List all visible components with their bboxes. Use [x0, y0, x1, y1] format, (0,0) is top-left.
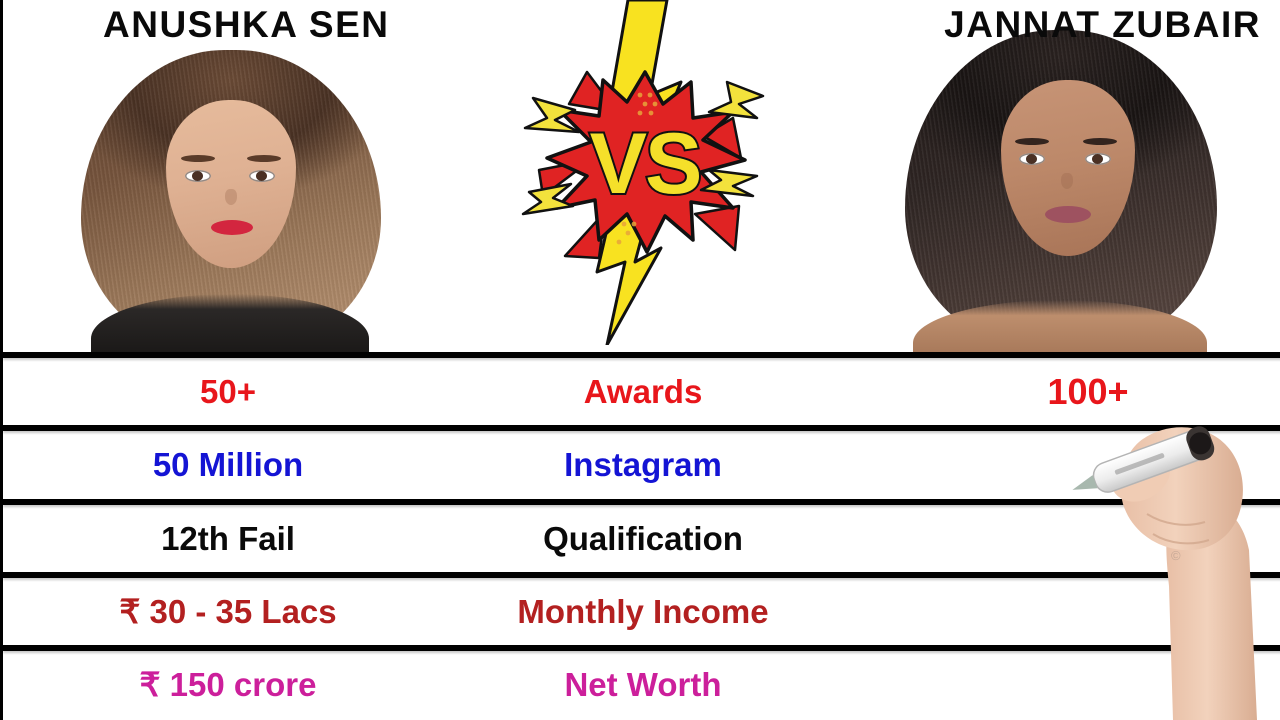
left-eye-1 — [185, 170, 211, 182]
row-3-left-value: 12th Fail — [63, 505, 393, 572]
row-4-right-value — [923, 578, 1253, 645]
vs-badge: VS — [495, 0, 795, 345]
right-lips — [1045, 206, 1091, 223]
right-eye-2 — [1085, 153, 1111, 165]
row-5-right-value — [923, 651, 1253, 718]
left-nose — [225, 189, 237, 205]
row-3-right-value — [923, 505, 1253, 572]
row-2-right-value — [923, 431, 1253, 498]
right-person-photo — [895, 22, 1225, 352]
row-1-left-value: 50+ — [63, 358, 393, 425]
left-eye-2 — [249, 170, 275, 182]
left-brow-1 — [181, 155, 215, 162]
row-4-left-value: ₹ 30 - 35 Lacs — [63, 578, 393, 645]
row-5-label: Net Worth — [455, 651, 831, 718]
photo-band: ANUSHKA SEN JANNAT ZUBAIR — [3, 0, 1280, 352]
row-5-left-value: ₹ 150 crore — [63, 651, 393, 718]
left-lips — [211, 220, 253, 235]
table-row: ₹ 150 crore Net Worth — [3, 651, 1280, 718]
right-nose — [1061, 173, 1073, 189]
left-person-photo — [65, 34, 395, 352]
row-3-label: Qualification — [455, 505, 831, 572]
row-2-label: Instagram — [455, 431, 831, 498]
row-1-label: Awards — [455, 358, 831, 425]
table-row: 50 Million Instagram — [3, 431, 1280, 498]
row-2-left-value: 50 Million — [63, 431, 393, 498]
comparison-table: 50+ Awards 100+ 50 Million Instagram 12t… — [3, 352, 1280, 720]
row-1-right-value: 100+ — [923, 358, 1253, 425]
table-row: 12th Fail Qualification — [3, 505, 1280, 572]
comparison-thumbnail: ANUSHKA SEN JANNAT ZUBAIR — [0, 0, 1280, 720]
row-4-label: Monthly Income — [455, 578, 831, 645]
right-person-name: JANNAT ZUBAIR — [944, 4, 1261, 46]
table-row: 50+ Awards 100+ — [3, 358, 1280, 425]
vs-label: VS — [590, 116, 701, 212]
right-eye-1 — [1019, 153, 1045, 165]
right-brow-2 — [1083, 138, 1117, 145]
watermark: © — [1171, 548, 1181, 563]
left-brow-2 — [247, 155, 281, 162]
table-row: ₹ 30 - 35 Lacs Monthly Income — [3, 578, 1280, 645]
left-person-name: ANUSHKA SEN — [103, 4, 389, 46]
right-brow-1 — [1015, 138, 1049, 145]
